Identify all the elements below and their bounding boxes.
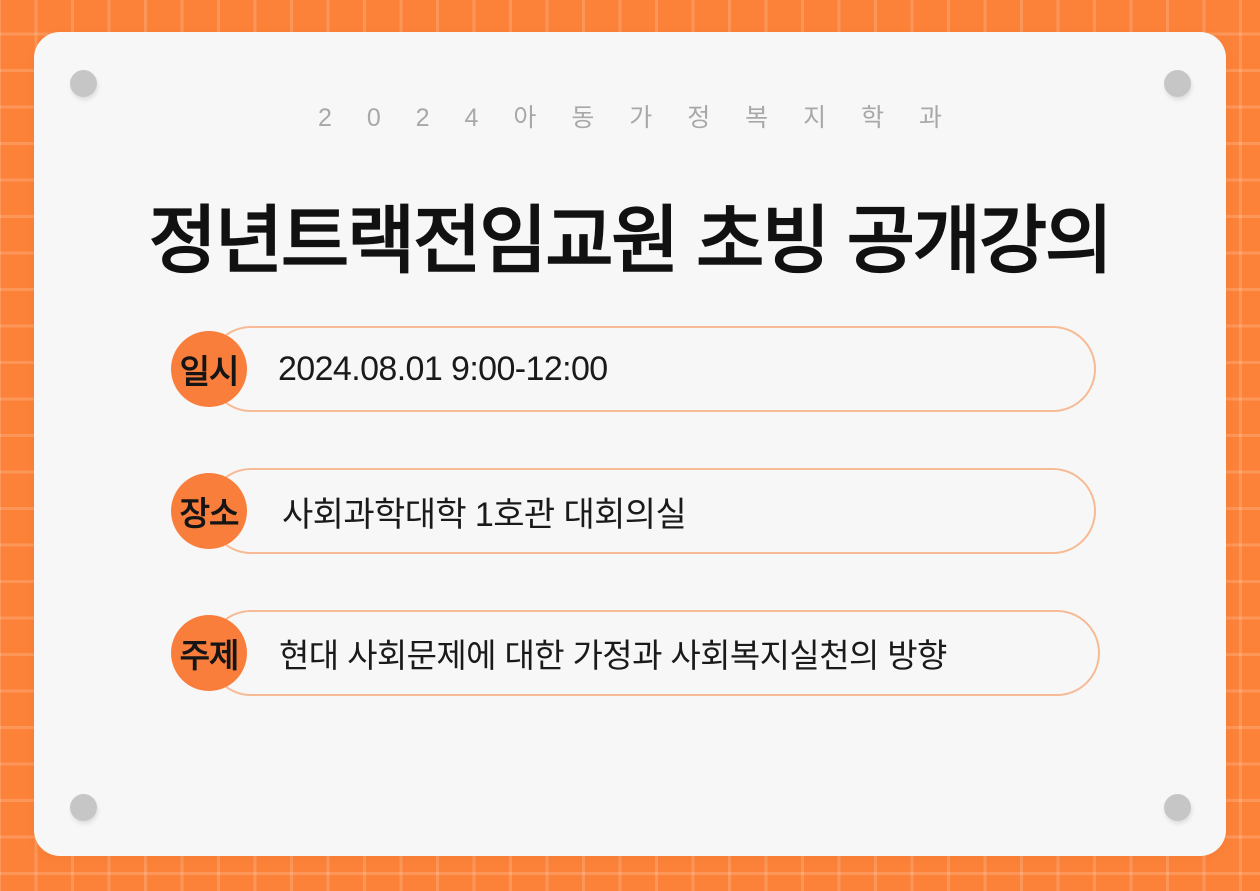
detail-row-value-location: 사회과학대학 1호관 대회의실 [282, 468, 686, 554]
poster-background: 2 0 2 4 아 동 가 정 복 지 학 과 정년트랙전임교원 초빙 공개강의… [0, 0, 1260, 891]
detail-row-topic: 주제 현대 사회문제에 대한 가정과 사회복지실천의 방향 [34, 610, 1226, 696]
corner-dot-top-left-icon [70, 70, 97, 97]
corner-dot-bottom-right-icon [1164, 794, 1191, 821]
detail-row-badge-topic: 주제 [171, 615, 247, 691]
detail-row-location: 장소 사회과학대학 1호관 대회의실 [34, 468, 1226, 554]
detail-row-value-topic: 현대 사회문제에 대한 가정과 사회복지실천의 방향 [279, 610, 947, 696]
poster-title: 정년트랙전임교원 초빙 공개강의 [34, 204, 1226, 278]
corner-dot-bottom-left-icon [70, 794, 97, 821]
corner-dot-top-right-icon [1164, 70, 1191, 97]
detail-row-value-datetime: 2024.08.01 9:00-12:00 [278, 326, 608, 412]
detail-rows: 일시 2024.08.01 9:00-12:00 장소 사회과학대학 1호관 대… [34, 326, 1226, 752]
poster-eyebrow: 2 0 2 4 아 동 가 정 복 지 학 과 [34, 98, 1226, 134]
detail-row-badge-location: 장소 [171, 473, 247, 549]
detail-row-badge-datetime: 일시 [171, 331, 247, 407]
detail-row-datetime: 일시 2024.08.01 9:00-12:00 [34, 326, 1226, 412]
poster-card: 2 0 2 4 아 동 가 정 복 지 학 과 정년트랙전임교원 초빙 공개강의… [34, 32, 1226, 856]
